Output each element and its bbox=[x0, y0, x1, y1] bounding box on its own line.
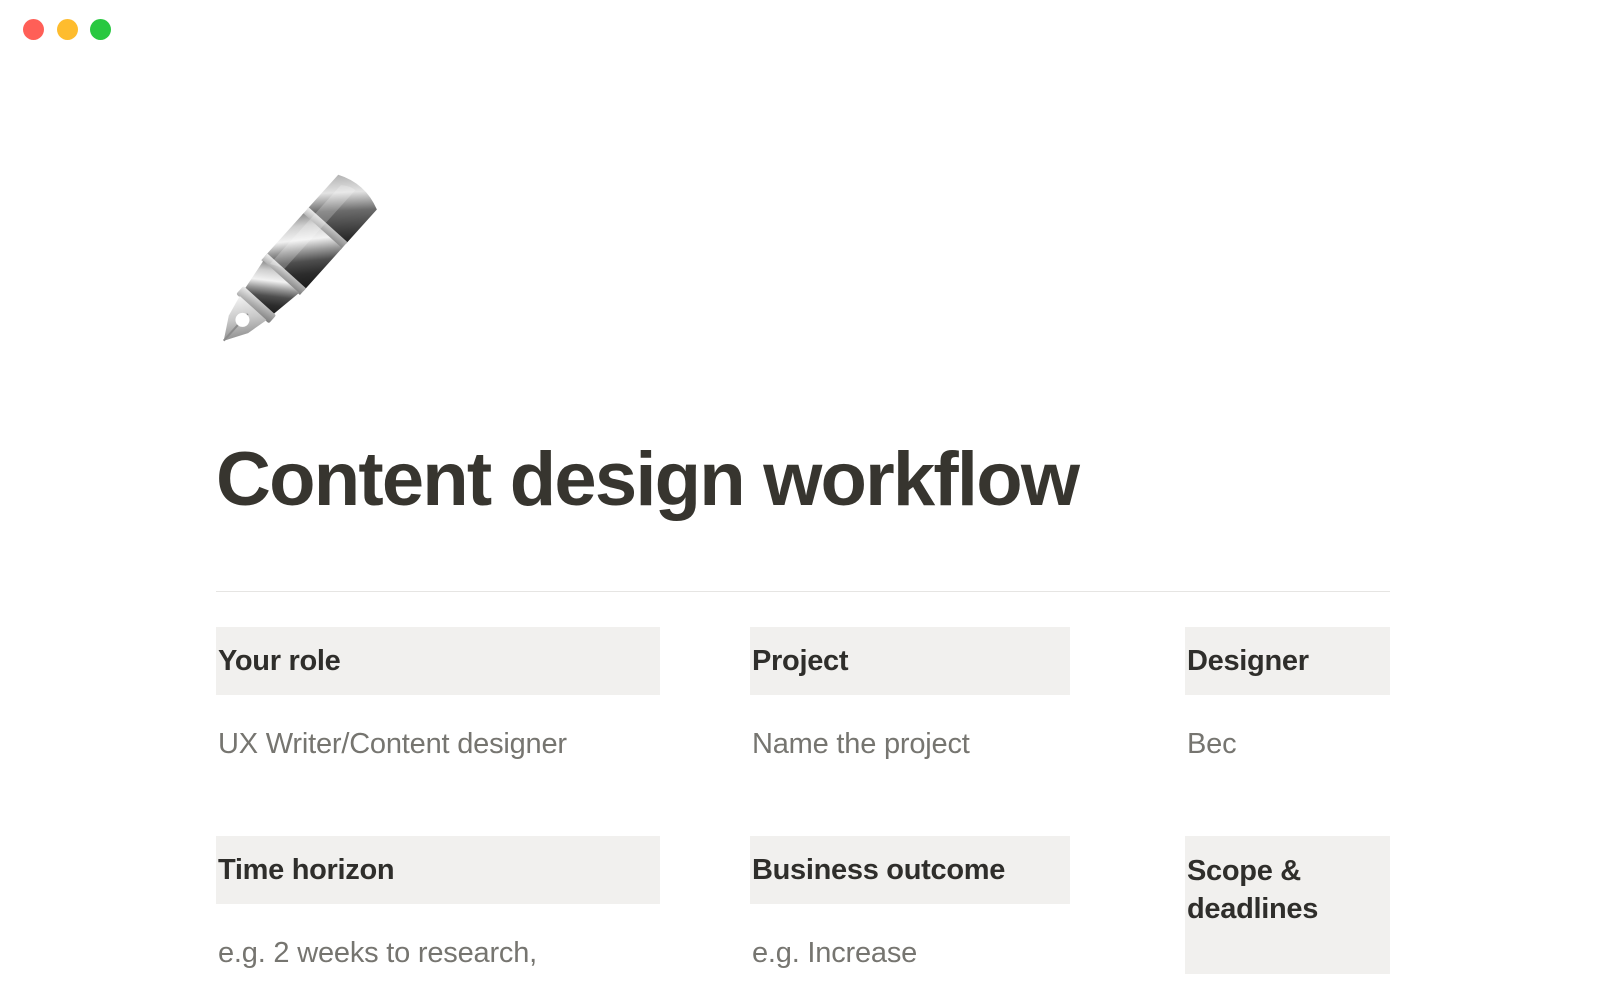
property-label-time-horizon[interactable]: Time horizon bbox=[216, 836, 660, 904]
property-label-project[interactable]: Project bbox=[750, 627, 1070, 695]
property-label-business-outcome[interactable]: Business outcome bbox=[750, 836, 1070, 904]
maximize-window-button[interactable] bbox=[90, 19, 111, 40]
property-grid: Your role UX Writer/Content designer Pro… bbox=[216, 627, 1390, 1000]
property-cell-project: Project Name the project bbox=[750, 627, 1070, 764]
minimize-window-button[interactable] bbox=[57, 19, 78, 40]
property-label-scope-deadlines[interactable]: Scope & deadlines bbox=[1185, 836, 1390, 974]
property-row: Your role UX Writer/Content designer Pro… bbox=[216, 627, 1390, 836]
property-value-your-role[interactable]: UX Writer/Content designer bbox=[216, 725, 660, 764]
property-cell-scope-deadlines: Scope & deadlines bbox=[1185, 836, 1390, 1000]
property-value-business-outcome[interactable]: e.g. Increase bbox=[750, 934, 1070, 973]
property-value-time-horizon[interactable]: e.g. 2 weeks to research, bbox=[216, 934, 660, 973]
property-label-designer[interactable]: Designer bbox=[1185, 627, 1390, 695]
document-page: Content design workflow Your role UX Wri… bbox=[0, 58, 1600, 1000]
property-cell-your-role: Your role UX Writer/Content designer bbox=[216, 627, 660, 764]
property-value-designer[interactable]: Bec bbox=[1185, 725, 1390, 764]
property-value-project[interactable]: Name the project bbox=[750, 725, 1070, 764]
property-cell-time-horizon: Time horizon e.g. 2 weeks to research, bbox=[216, 836, 660, 973]
property-cell-business-outcome: Business outcome e.g. Increase bbox=[750, 836, 1070, 973]
fountain-pen-icon[interactable] bbox=[216, 156, 384, 356]
fountain-pen-icon-graphic bbox=[216, 156, 384, 356]
close-window-button[interactable] bbox=[23, 19, 44, 40]
property-cell-designer: Designer Bec bbox=[1185, 627, 1390, 764]
window-titlebar bbox=[0, 0, 1600, 58]
title-divider bbox=[216, 591, 1390, 592]
property-label-your-role[interactable]: Your role bbox=[216, 627, 660, 695]
page-title[interactable]: Content design workflow bbox=[216, 438, 1396, 522]
property-row: Time horizon e.g. 2 weeks to research, B… bbox=[216, 836, 1390, 1000]
app-window: Content design workflow Your role UX Wri… bbox=[0, 0, 1600, 1000]
traffic-light-controls bbox=[23, 19, 111, 40]
